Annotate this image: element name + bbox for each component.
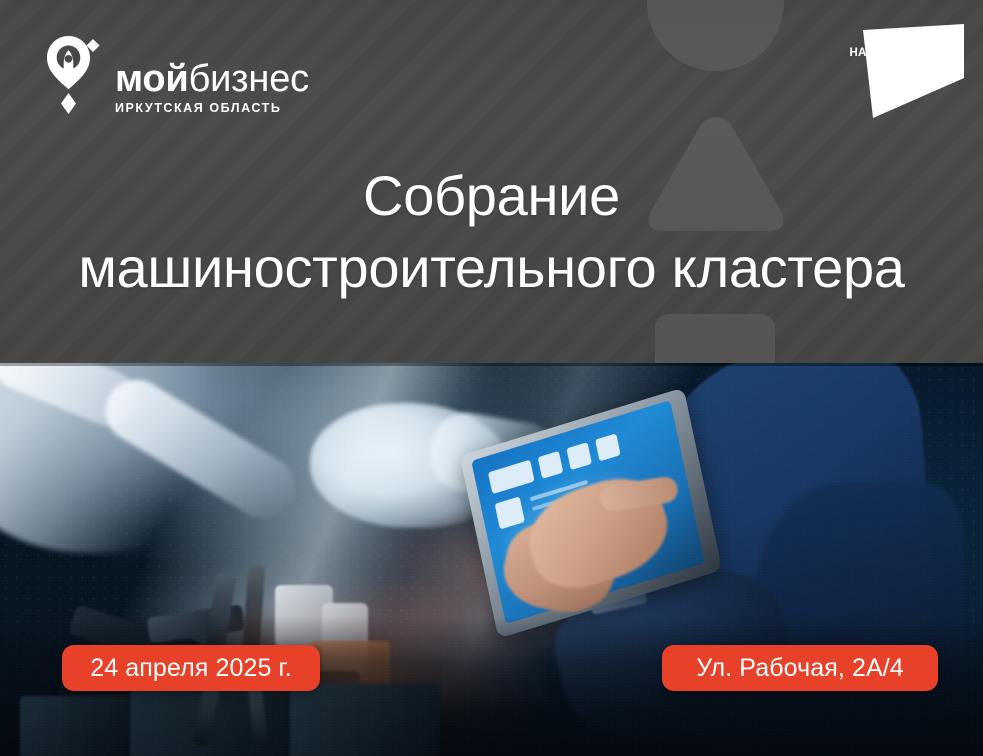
title-line-1: Собрание [0,160,983,232]
logo-wordmark-main: мойбизнес [115,59,309,99]
decorative-circle-icon [647,0,784,71]
logo-national-projects: НАЦИОНАЛЬНЫЕ ПРОЕКТЫ РОССИИ [827,22,967,130]
logo-word-biznes: бизнес [189,58,309,100]
event-date-badge: 24 апреля 2025 г. [62,645,320,691]
event-address-badge: Ул. Рабочая, 2А/4 [662,645,938,691]
np-line-2: ПРОЕКТЫ [849,61,955,75]
decorative-square-icon [655,314,775,363]
photo-top-edge [0,363,983,366]
logo-wordmark: мойбизнес ИРКУТСКАЯ ОБЛАСТЬ [115,33,309,115]
photo-grain [0,363,983,756]
np-line-1: НАЦИОНАЛЬНЫЕ [849,47,955,61]
page-title: Собрание машиностроительного кластера [0,160,983,304]
event-poster: мойбизнес ИРКУТСКАЯ ОБЛАСТЬ НАЦИОНАЛЬНЫЕ… [0,0,983,756]
logo-word-moy: мой [115,58,189,100]
np-line-3: РОССИИ [849,74,955,88]
logo-my-business: мойбизнес ИРКУТСКАЯ ОБЛАСТЬ [46,33,309,119]
logo-region-label: ИРКУТСКАЯ ОБЛАСТЬ [115,101,309,115]
hero-photo [0,363,983,756]
title-line-2: машиностроительного кластера [0,232,983,304]
location-pin-rocket-icon [46,33,102,119]
logo-national-projects-text: НАЦИОНАЛЬНЫЕ ПРОЕКТЫ РОССИИ [849,47,955,88]
